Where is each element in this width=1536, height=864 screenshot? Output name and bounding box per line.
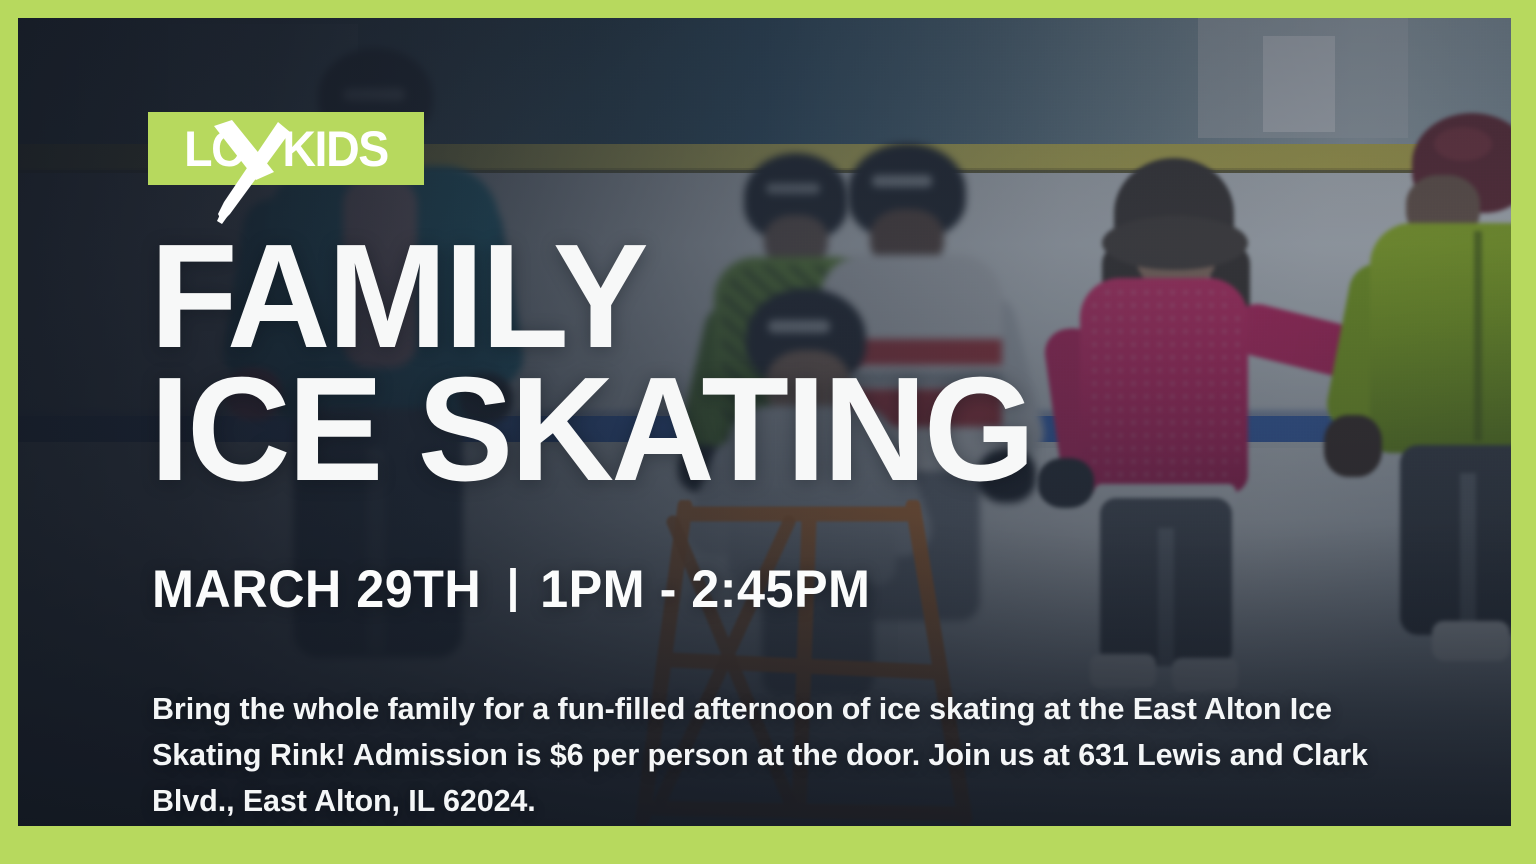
event-description: Bring the whole family for a fun-filled … xyxy=(152,686,1382,825)
lcxkids-logo[interactable]: LC KIDS xyxy=(148,112,428,187)
poster: LC KIDS FAMILY ICE SKATING xyxy=(0,0,1536,864)
event-datetime: MARCH 29TH 1PM - 2:45PM xyxy=(152,559,870,620)
logo-suffix: KIDS xyxy=(282,124,388,174)
headline-line-1: FAMILY xyxy=(150,233,1217,360)
poster-content: LC KIDS FAMILY ICE SKATING xyxy=(18,18,1511,826)
logo-prefix: LC xyxy=(184,124,243,174)
datetime-separator xyxy=(510,568,516,612)
headline: FAMILY ICE SKATING xyxy=(150,233,1250,494)
logo-wordmark: LC KIDS xyxy=(158,112,415,185)
photo-frame: LC KIDS FAMILY ICE SKATING xyxy=(18,18,1511,826)
headline-line-2: ICE SKATING xyxy=(150,366,1217,493)
event-time: 1PM - 2:45PM xyxy=(540,559,870,620)
event-date: MARCH 29TH xyxy=(152,559,481,620)
